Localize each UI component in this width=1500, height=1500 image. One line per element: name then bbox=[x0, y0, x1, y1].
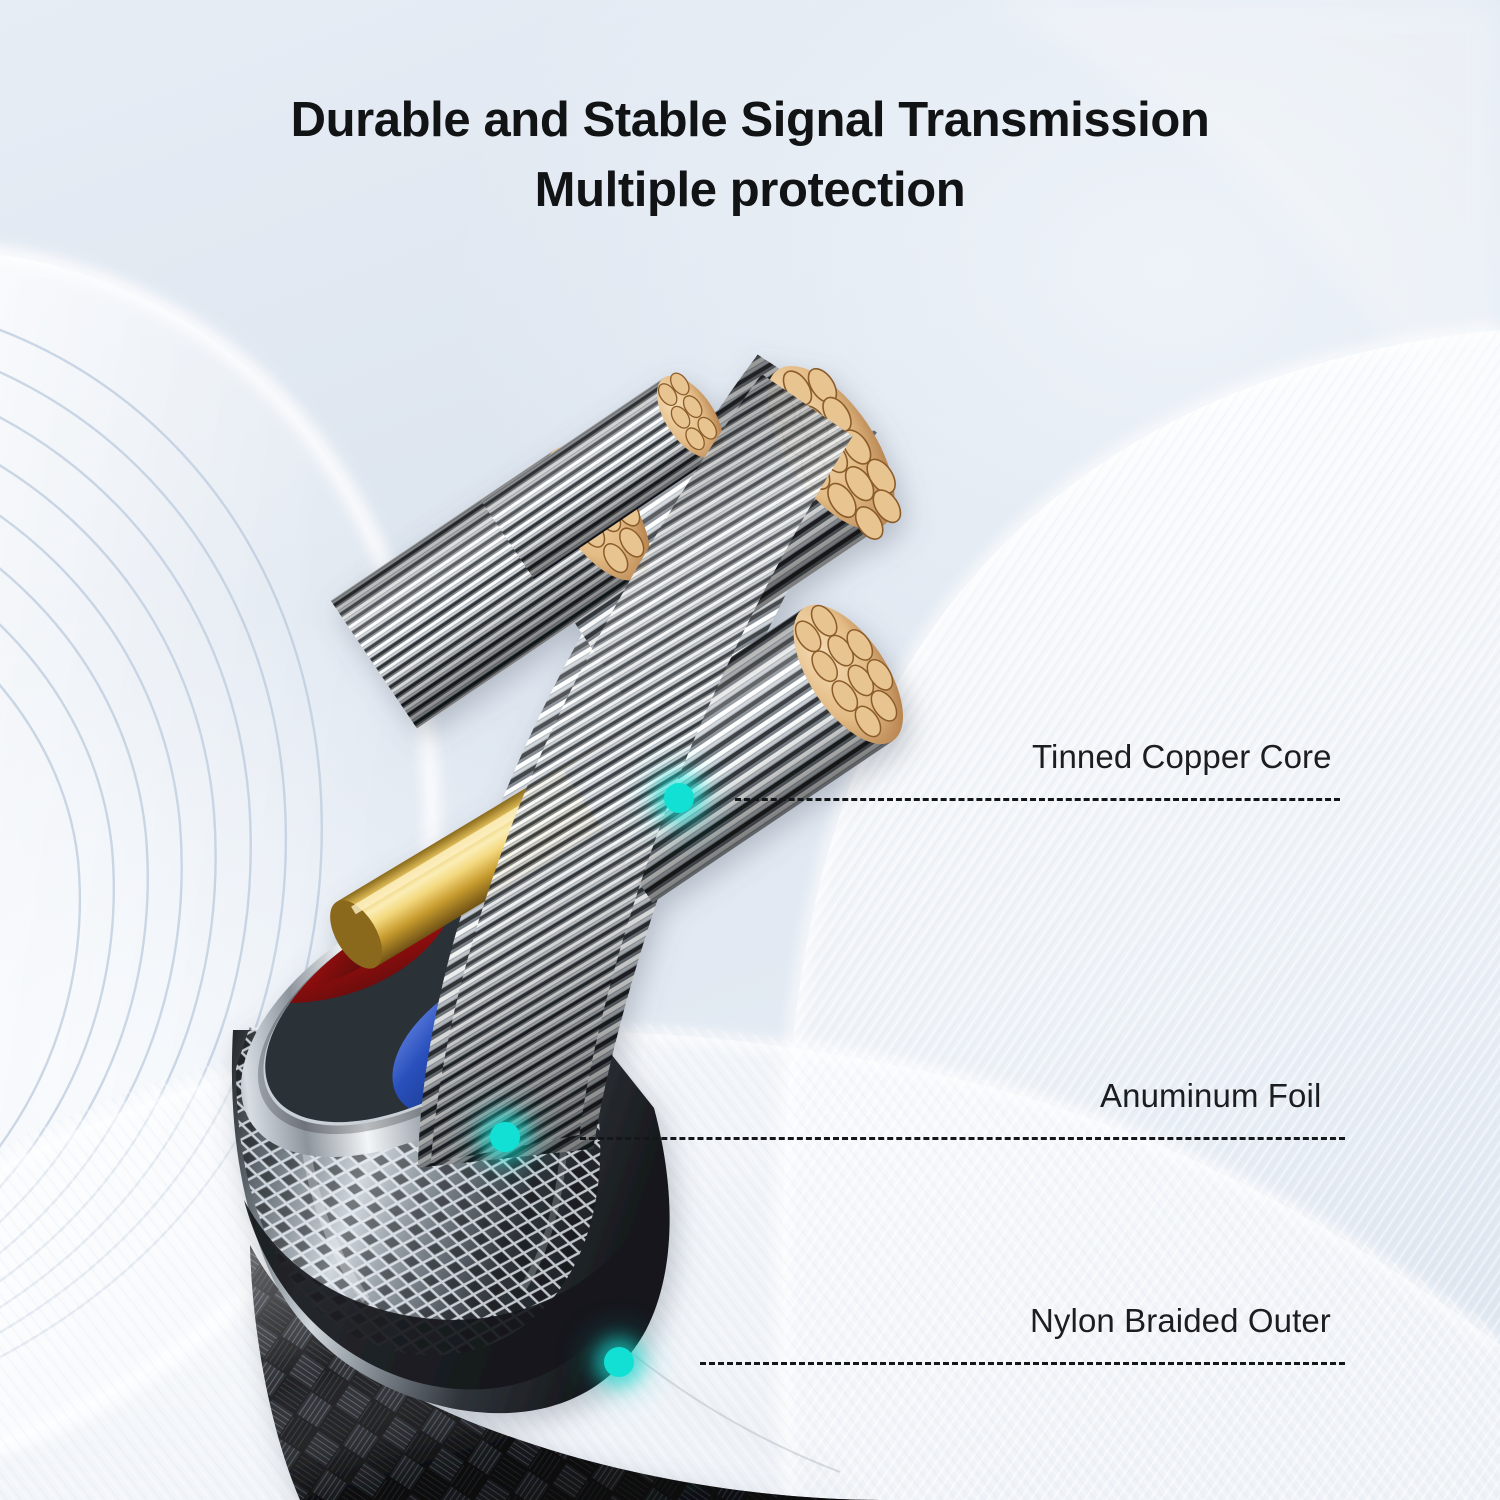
callout-label-nylon-braided-outer: Nylon Braided Outer bbox=[1030, 1302, 1331, 1340]
marker-dot-tinned-copper-core bbox=[664, 783, 694, 813]
callout-label-tinned-copper-core: Tinned Copper Core bbox=[1032, 738, 1332, 776]
product-infographic: Durable and Stable Signal Transmission M… bbox=[0, 0, 1500, 1500]
marker-dot-nylon-braided-outer bbox=[604, 1347, 634, 1377]
page-title: Durable and Stable Signal Transmission M… bbox=[0, 86, 1500, 225]
leader-line-tinned-copper-core bbox=[735, 798, 1340, 801]
leader-line-nylon-braided-outer bbox=[700, 1362, 1345, 1365]
leader-line-anuminum-foil bbox=[580, 1137, 1345, 1140]
title-line-1: Durable and Stable Signal Transmission bbox=[291, 93, 1210, 147]
title-line-2: Multiple protection bbox=[0, 156, 1500, 226]
marker-dot-anuminum-foil bbox=[490, 1122, 520, 1152]
callout-label-anuminum-foil: Anuminum Foil bbox=[1100, 1077, 1321, 1115]
